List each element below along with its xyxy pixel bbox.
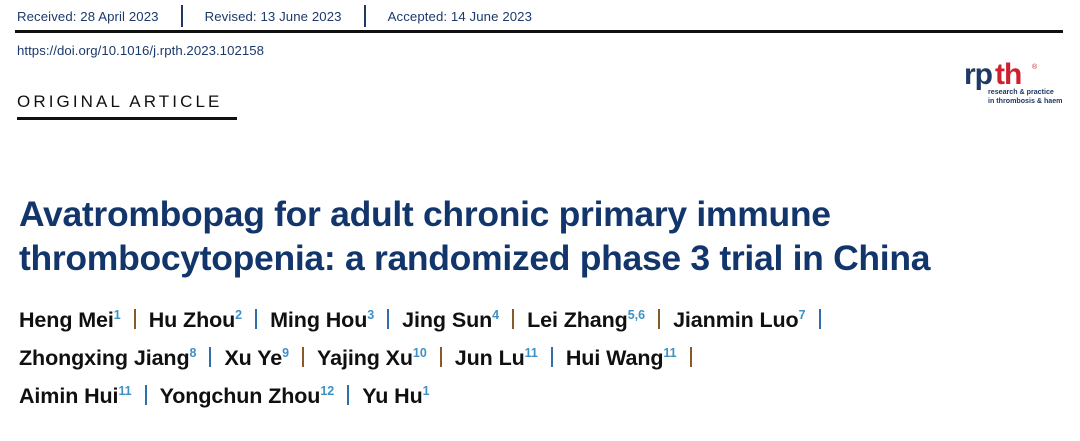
author-name[interactable]: Hui Wang11 xyxy=(566,346,677,370)
author-name[interactable]: Xu Ye9 xyxy=(224,346,289,370)
svg-text:research & practice: research & practice xyxy=(988,88,1054,96)
page-title: Avatrombopag for adult chronic primary i… xyxy=(19,192,1059,280)
author-affiliation-marker: 7 xyxy=(799,308,806,322)
author-name[interactable]: Yajing Xu10 xyxy=(317,346,427,370)
svg-text:rp: rp xyxy=(964,58,993,91)
author-affiliation-marker: 11 xyxy=(663,346,676,360)
author-name[interactable]: Jun Lu11 xyxy=(455,346,538,370)
author-name[interactable]: Heng Mei1 xyxy=(19,308,121,332)
author-name[interactable]: Jing Sun4 xyxy=(402,308,499,332)
rpth-logo-icon: rp th ® research & practice in thrombosi… xyxy=(964,58,1062,108)
author-name[interactable]: Yu Hu1 xyxy=(362,384,429,408)
author-separator xyxy=(440,347,442,367)
author-separator xyxy=(145,385,147,405)
author-affiliation-marker: 12 xyxy=(320,384,334,398)
author-affiliation-marker: 4 xyxy=(492,308,499,322)
author-separator xyxy=(658,309,660,329)
author-affiliation-marker: 5,6 xyxy=(628,308,645,322)
author-separator xyxy=(387,309,389,329)
revised-date: Revised: 13 June 2023 xyxy=(205,9,342,24)
author-separator xyxy=(347,385,349,405)
author-separator xyxy=(512,309,514,329)
author-name[interactable]: Ming Hou3 xyxy=(270,308,374,332)
author-line: Aimin Hui11Yongchun Zhou12Yu Hu1 xyxy=(19,377,1064,415)
author-affiliation-marker: 9 xyxy=(282,346,289,360)
received-date: Received: 28 April 2023 xyxy=(17,9,159,24)
article-type-underline xyxy=(17,117,237,120)
svg-text:in thrombosis & haemostasis: in thrombosis & haemostasis xyxy=(988,97,1062,105)
author-affiliation-marker: 8 xyxy=(190,346,197,360)
date-separator xyxy=(181,5,183,27)
author-separator xyxy=(690,347,692,367)
author-name[interactable]: Hu Zhou2 xyxy=(149,308,242,332)
author-affiliation-marker: 11 xyxy=(118,384,131,398)
author-affiliation-marker: 1 xyxy=(114,308,121,322)
author-affiliation-marker: 3 xyxy=(367,308,374,322)
author-line: Zhongxing Jiang8Xu Ye9Yajing Xu10Jun Lu1… xyxy=(19,339,1064,377)
author-affiliation-marker: 2 xyxy=(235,308,242,322)
author-separator xyxy=(551,347,553,367)
author-name[interactable]: Jianmin Luo7 xyxy=(673,308,805,332)
publication-dates-row: Received: 28 April 2023 Revised: 13 June… xyxy=(17,5,532,27)
author-line: Heng Mei1Hu Zhou2Ming Hou3Jing Sun4Lei Z… xyxy=(19,301,1064,339)
journal-logo-rpth: rp th ® research & practice in thrombosi… xyxy=(964,58,1062,108)
author-separator xyxy=(819,309,821,329)
svg-text:®: ® xyxy=(1032,63,1038,71)
author-name[interactable]: Yongchun Zhou12 xyxy=(160,384,335,408)
author-affiliation-marker: 10 xyxy=(413,346,427,360)
author-affiliation-marker: 11 xyxy=(525,346,538,360)
doi-link[interactable]: https://doi.org/10.1016/j.rpth.2023.1021… xyxy=(17,43,264,58)
author-affiliation-marker: 1 xyxy=(423,384,430,398)
title-line-2: thrombocytopenia: a randomized phase 3 t… xyxy=(19,236,1059,280)
author-name[interactable]: Lei Zhang5,6 xyxy=(527,308,645,332)
svg-text:th: th xyxy=(995,58,1021,91)
author-name[interactable]: Zhongxing Jiang8 xyxy=(19,346,196,370)
author-separator xyxy=(134,309,136,329)
article-type-label: ORIGINAL ARTICLE xyxy=(17,92,222,112)
author-separator xyxy=(302,347,304,367)
author-name[interactable]: Aimin Hui11 xyxy=(19,384,132,408)
author-list: Heng Mei1Hu Zhou2Ming Hou3Jing Sun4Lei Z… xyxy=(19,301,1064,415)
title-line-1: Avatrombopag for adult chronic primary i… xyxy=(19,192,1059,236)
author-separator xyxy=(209,347,211,367)
date-separator xyxy=(364,5,366,27)
header-divider-rule xyxy=(15,30,1063,33)
author-separator xyxy=(255,309,257,329)
accepted-date: Accepted: 14 June 2023 xyxy=(388,9,532,24)
